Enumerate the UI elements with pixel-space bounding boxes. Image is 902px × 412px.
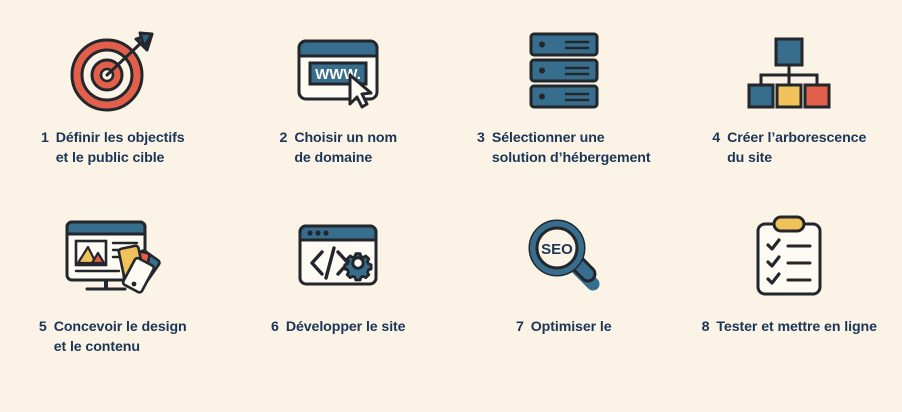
- step-card-7: SEO 7 Optimiser le: [451, 207, 677, 392]
- step-label-6: Développer le site: [286, 317, 406, 337]
- step-number-7: 7: [516, 317, 524, 337]
- monitor-color-swatches-icon: [0, 213, 226, 299]
- step-card-6: 6 Développer le site: [226, 207, 452, 392]
- step-caption-6: 6 Développer le site: [271, 317, 405, 337]
- step-caption-2: 2 Choisir un nom de domaine: [280, 128, 397, 168]
- step-label-2: Choisir un nom de domaine: [294, 128, 397, 168]
- step-card-4: 4 Créer l’arborescence du site: [677, 22, 902, 207]
- step-label-1: Définir les objectifs et le public cible: [56, 128, 185, 168]
- magnifier-seo-text: SEO: [541, 241, 573, 258]
- step-caption-5: 5 Concevoir le design et le contenu: [39, 317, 187, 357]
- step-card-5: 5 Concevoir le design et le contenu: [0, 207, 226, 392]
- step-label-7: Optimiser le: [531, 317, 612, 337]
- step-number-5: 5: [39, 317, 47, 337]
- step-caption-4: 4 Créer l’arborescence du site: [712, 128, 866, 168]
- step-number-2: 2: [280, 128, 288, 148]
- step-caption-3: 3 Sélectionner une solution d’hébergemen…: [477, 128, 650, 168]
- server-stack-icon: [451, 28, 677, 114]
- target-arrow-icon: [0, 28, 226, 114]
- sitemap-tree-icon: [677, 28, 902, 114]
- steps-grid: 1 Définir les objectifs et le public cib…: [0, 22, 902, 392]
- step-label-4: Créer l’arborescence du site: [727, 128, 866, 168]
- step-caption-7: 7 Optimiser le: [516, 317, 612, 337]
- step-caption-8: 8 Tester et mettre en ligne: [702, 317, 877, 337]
- step-label-5: Concevoir le design et le contenu: [54, 317, 187, 357]
- step-card-2: WWW. 2 Choisir un nom de domaine: [226, 22, 452, 207]
- step-label-3: Sélectionner une solution d’hébergement: [492, 128, 651, 168]
- code-window-gear-icon: [226, 213, 452, 299]
- step-card-8: 8 Tester et mettre en ligne: [677, 207, 902, 392]
- infographic-board: 1 Définir les objectifs et le public cib…: [0, 0, 902, 412]
- step-card-3: 3 Sélectionner une solution d’hébergemen…: [451, 22, 677, 207]
- step-number-6: 6: [271, 317, 279, 337]
- step-number-8: 8: [702, 317, 710, 337]
- step-caption-1: 1 Définir les objectifs et le public cib…: [41, 128, 185, 168]
- magnifier-seo-icon: SEO: [451, 213, 677, 299]
- step-number-3: 3: [477, 128, 485, 148]
- step-card-1: 1 Définir les objectifs et le public cib…: [0, 22, 226, 207]
- step-label-8: Tester et mettre en ligne: [716, 317, 876, 337]
- clipboard-checklist-icon: [677, 213, 902, 299]
- browser-www-cursor-icon: WWW.: [226, 28, 452, 114]
- step-number-4: 4: [712, 128, 720, 148]
- step-number-1: 1: [41, 128, 49, 148]
